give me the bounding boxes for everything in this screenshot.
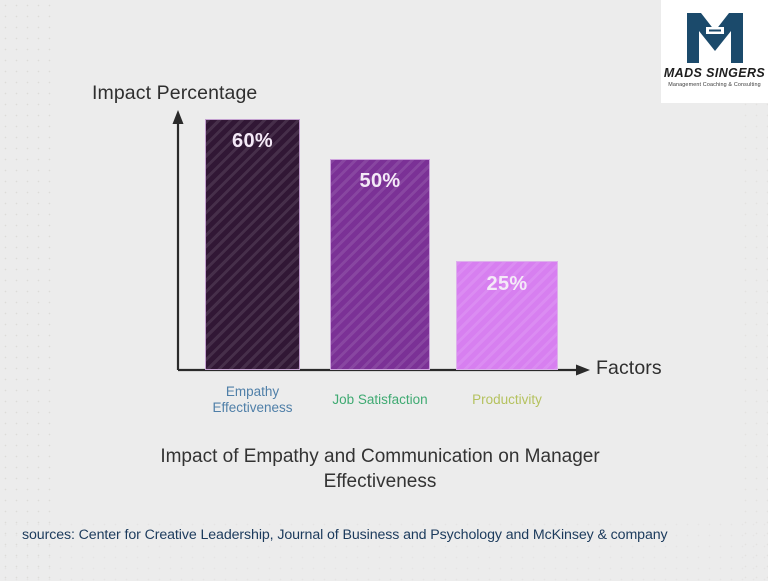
chart-page: MADS SINGERS Management Coaching & Consu…	[0, 0, 768, 581]
logo-brand-name: MADS SINGERS	[661, 67, 768, 81]
bar-value-label: 25%	[457, 273, 557, 296]
bar-productivity: 25%	[456, 261, 558, 370]
bar-chart: Impact Percentage Factors 60% 50% 25% Em…	[0, 0, 768, 520]
bar-job-satisfaction: 50%	[330, 159, 430, 370]
x-axis-label: Factors	[596, 357, 662, 380]
chart-title-caption: Impact of Empathy and Communication on M…	[140, 445, 620, 494]
bar-hatch-pattern	[206, 120, 299, 369]
y-axis-label: Impact Percentage	[92, 82, 257, 105]
bar-value-label: 60%	[206, 130, 299, 153]
category-label-empathy-effectiveness: Empathy Effectiveness	[195, 384, 310, 415]
bar-empathy-effectiveness: 60%	[205, 119, 300, 370]
bar-value-label: 50%	[331, 170, 429, 193]
category-label-productivity: Productivity	[449, 392, 565, 408]
category-label-job-satisfaction: Job Satisfaction	[316, 392, 444, 408]
letter-m-monogram-icon	[681, 7, 749, 65]
brand-logo-card: MADS SINGERS Management Coaching & Consu…	[661, 0, 768, 103]
logo-tagline: Management Coaching & Consulting	[661, 83, 768, 89]
sources-note: sources: Center for Creative Leadership,…	[22, 527, 668, 543]
